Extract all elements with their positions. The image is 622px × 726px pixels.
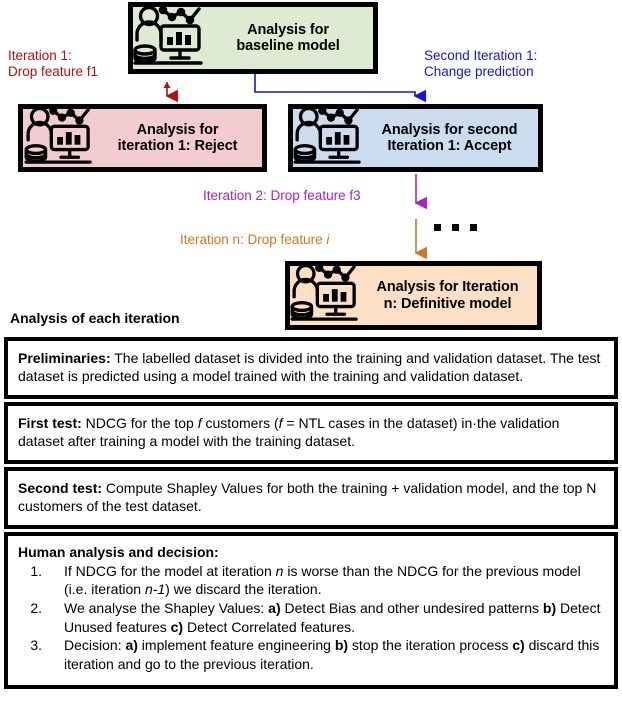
panel-box-first-test: First test: NDCG for the top f customers… xyxy=(4,402,618,464)
analyst-dashboard-icon xyxy=(133,5,211,72)
list-item: 1. If NDCG for the model at iteration n … xyxy=(18,562,604,599)
panel-box-preliminaries: Preliminaries: The labelled dataset is d… xyxy=(4,337,618,399)
node-label: Analysis for iteration 1: Reject xyxy=(101,122,262,154)
edge-label-iteration2: Iteration 2: Drop feature f3 xyxy=(203,188,361,204)
item3-option-c: c) xyxy=(512,637,524,653)
item3-option-b: b) xyxy=(335,637,348,653)
panel-box-second-test: Second test: Compute Shapley Values for … xyxy=(4,467,618,529)
human-analysis-list: 1. If NDCG for the model at iteration n … xyxy=(18,562,604,674)
list-item-number: 3. xyxy=(18,636,64,673)
node-analysis-iteration1-reject[interactable]: Analysis for iteration 1: Reject xyxy=(18,104,267,172)
human-analysis-title: Human analysis and decision: xyxy=(18,544,604,560)
item3-option-a: a) xyxy=(125,637,137,653)
list-item-body: If NDCG for the model at iteration n is … xyxy=(64,562,604,599)
item2-part4: Detect Correlated features. xyxy=(183,619,355,635)
diagram-caption: Analysis of each iteration xyxy=(10,310,180,326)
node-analysis-baseline-model[interactable]: Analysis for baseline model xyxy=(128,2,378,74)
item2-option-b: b) xyxy=(543,600,556,616)
edge-label-iteration1: Iteration 1: Drop feature f1 xyxy=(8,48,98,80)
edge-iteration1-arrow xyxy=(164,82,171,96)
second-test-text: Second test: Compute Shapley Values for … xyxy=(18,479,604,516)
analysis-detail-panel: Preliminaries: The labelled dataset is d… xyxy=(4,337,618,692)
item3-part1: Decision: xyxy=(64,637,125,653)
item2-part1: We analyse the Shapley Values: xyxy=(64,600,268,616)
list-item: 3. Decision: a) implement feature engine… xyxy=(18,636,604,673)
analyst-dashboard-icon xyxy=(23,106,101,171)
edge-label-second-iteration: Second Iteration 1: Change prediction xyxy=(424,48,537,80)
item2-part2: Detect Bias and other undesired patterns xyxy=(281,600,543,616)
panel-box-human-analysis: Human analysis and decision: 1. If NDCG … xyxy=(4,532,618,690)
first-test-title: First test: xyxy=(18,415,82,431)
node-label: Analysis for Iteration n: Definitive mod… xyxy=(366,279,537,311)
second-test-title: Second test: xyxy=(18,480,102,496)
list-item-body: Decision: a) implement feature engineeri… xyxy=(64,636,604,673)
list-item-number: 2. xyxy=(18,599,64,636)
node-label: Analysis for second Iteration 1: Accept xyxy=(369,122,538,154)
node-analysis-second-iteration1-accept[interactable]: Analysis for second Iteration 1: Accept xyxy=(288,104,543,172)
first-test-part2: customers ( xyxy=(202,415,279,431)
preliminaries-text: Preliminaries: The labelled dataset is d… xyxy=(18,349,604,386)
item3-part3: stop the iteration process xyxy=(348,637,512,653)
second-test-body: Compute Shapley Values for both the trai… xyxy=(18,480,596,514)
analyst-dashboard-icon xyxy=(290,263,366,328)
preliminaries-title: Preliminaries: xyxy=(18,350,111,366)
ellipsis-dots xyxy=(434,224,477,231)
item1-part1: If NDCG for the model at iteration xyxy=(64,563,276,579)
edge-second-arrow xyxy=(255,74,415,96)
list-item: 2. We analyse the Shapley Values: a) Det… xyxy=(18,599,604,636)
item1-var-n-minus-1: n-1 xyxy=(145,581,165,597)
item3-part2: implement feature engineering xyxy=(138,637,335,653)
node-label: Analysis for baseline model xyxy=(211,22,373,54)
item2-option-c: c) xyxy=(171,619,183,635)
node-analysis-iteration-n-definitive-model[interactable]: Analysis for Iteration n: Definitive mod… xyxy=(285,261,542,330)
process-flow-diagram: Analysis for baseline model xyxy=(0,0,622,340)
edge-label-iteration-n: Iteration n: Drop feature i xyxy=(180,232,329,248)
first-test-text: First test: NDCG for the top f customers… xyxy=(18,414,604,451)
first-test-part1: NDCG for the top xyxy=(82,415,198,431)
list-item-body: We analyse the Shapley Values: a) Detect… xyxy=(64,599,604,636)
item2-option-a: a) xyxy=(268,600,280,616)
item1-part3: ) we discard the iteration. xyxy=(165,581,321,597)
list-item-number: 1. xyxy=(18,562,64,599)
analyst-dashboard-icon xyxy=(293,106,369,171)
